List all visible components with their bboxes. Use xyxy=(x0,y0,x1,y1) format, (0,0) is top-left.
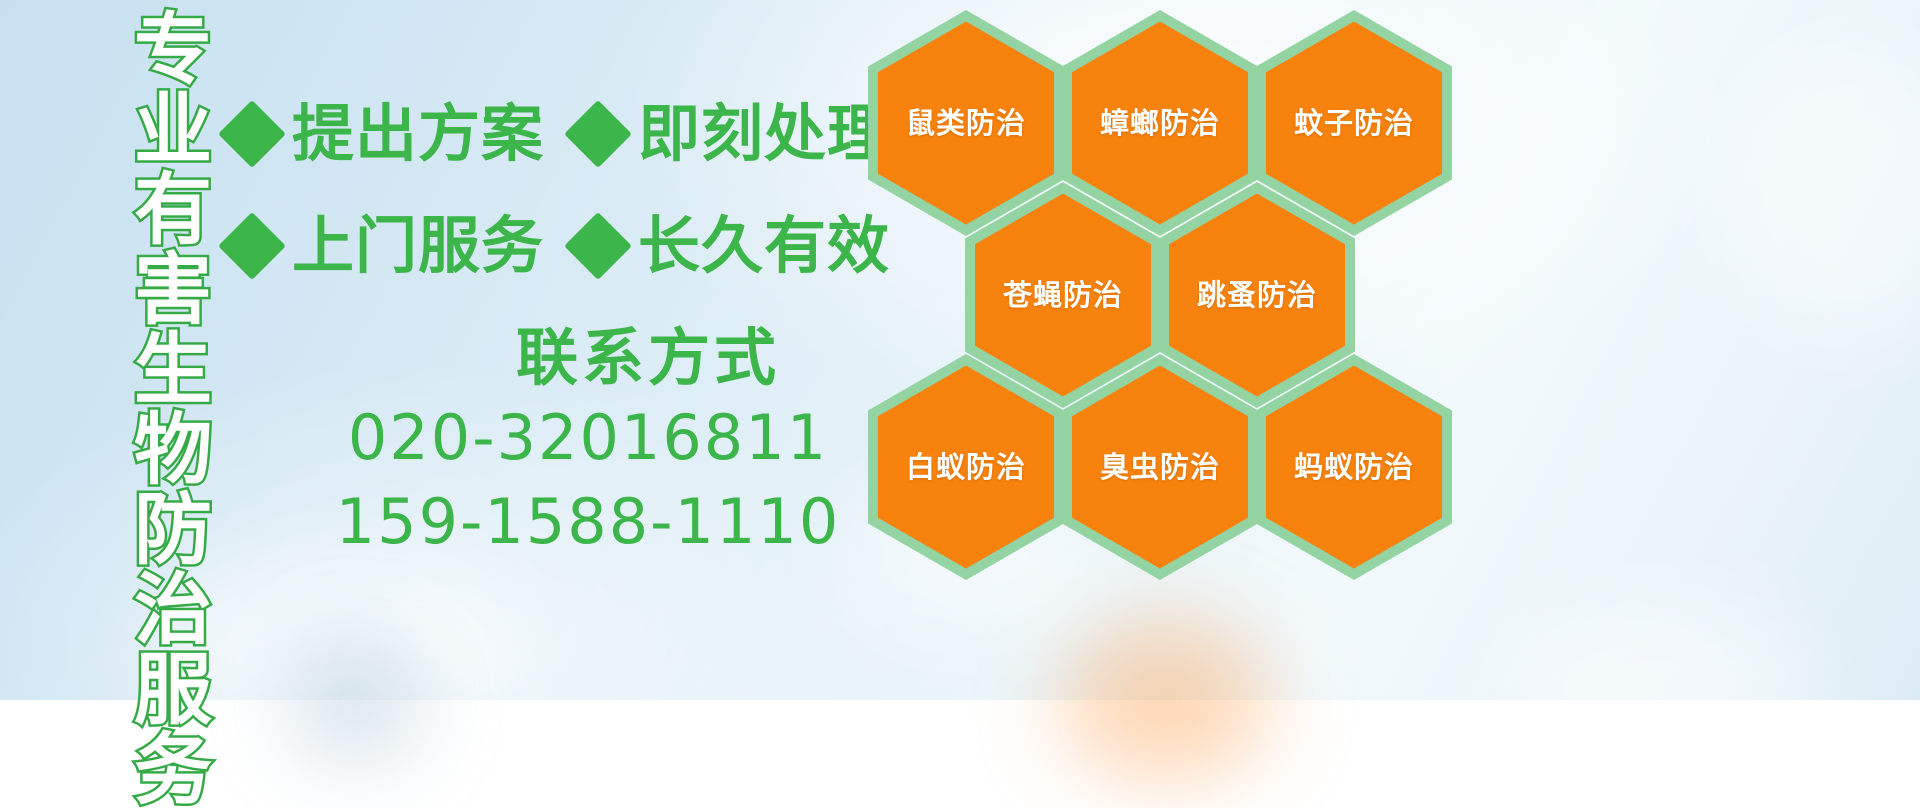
diamond-icon xyxy=(218,212,286,280)
hexagon-inner: 跳蚤防治 xyxy=(1169,194,1345,397)
feature-label: 提出方案 xyxy=(292,103,544,165)
hexagon-label: 跳蚤防治 xyxy=(1197,279,1317,311)
vertical-headline: 专业有害生物防治服务 xyxy=(112,8,208,688)
hexagon-inner: 蚊子防治 xyxy=(1266,22,1442,225)
contact-block: 联系方式 020-32016811 159-1588-1110 xyxy=(228,320,888,564)
background-blur-blob xyxy=(290,640,420,760)
hexagon-label: 蚂蚁防治 xyxy=(1294,451,1414,483)
hexagon-inner: 鼠类防治 xyxy=(878,22,1054,225)
feature-label: 长久有效 xyxy=(638,215,890,277)
diamond-icon xyxy=(564,212,632,280)
feature-row: 上门服务 长久有效 xyxy=(228,190,868,302)
background-blur-blob xyxy=(1500,600,1820,780)
feature-label: 即刻处理 xyxy=(638,103,890,165)
contact-heading: 联系方式 xyxy=(228,320,888,396)
hexagon-inner: 臭虫防治 xyxy=(1072,366,1248,569)
hexagon-inner: 苍蝇防治 xyxy=(975,194,1151,397)
background-blur-blob xyxy=(1060,620,1270,780)
hexagon-label: 臭虫防治 xyxy=(1100,451,1220,483)
feature-list: 提出方案 即刻处理 上门服务 长久有效 xyxy=(228,78,868,302)
hexagon-label: 蟑螂防治 xyxy=(1100,107,1220,139)
hexagon-label: 白蚁防治 xyxy=(906,451,1026,483)
background-blur-blob xyxy=(1720,40,1920,340)
hexagon-label: 鼠类防治 xyxy=(906,107,1026,139)
feature-item: 上门服务 xyxy=(228,215,574,277)
phone-number-landline[interactable]: 020-32016811 xyxy=(228,396,888,480)
feature-item: 提出方案 xyxy=(228,103,574,165)
hexagon-label: 苍蝇防治 xyxy=(1003,279,1123,311)
diamond-icon xyxy=(564,100,632,168)
hexagon-inner: 蟑螂防治 xyxy=(1072,22,1248,225)
hexagon-inner: 白蚁防治 xyxy=(878,366,1054,569)
feature-label: 上门服务 xyxy=(292,215,544,277)
hexagon-inner: 蚂蚁防治 xyxy=(1266,366,1442,569)
phone-number-mobile[interactable]: 159-1588-1110 xyxy=(228,480,888,564)
feature-row: 提出方案 即刻处理 xyxy=(228,78,868,190)
hexagon-label: 蚊子防治 xyxy=(1294,107,1414,139)
diamond-icon xyxy=(218,100,286,168)
pest-control-service-banner: 专业有害生物防治服务 提出方案 即刻处理 上门服务 长久有效 联系方式 xyxy=(0,0,1920,700)
service-hexagon-grid: 鼠类防治 蟑螂防治 蚊子防治 苍蝇防治 跳蚤防治 白蚁防治 xyxy=(862,2,1462,562)
